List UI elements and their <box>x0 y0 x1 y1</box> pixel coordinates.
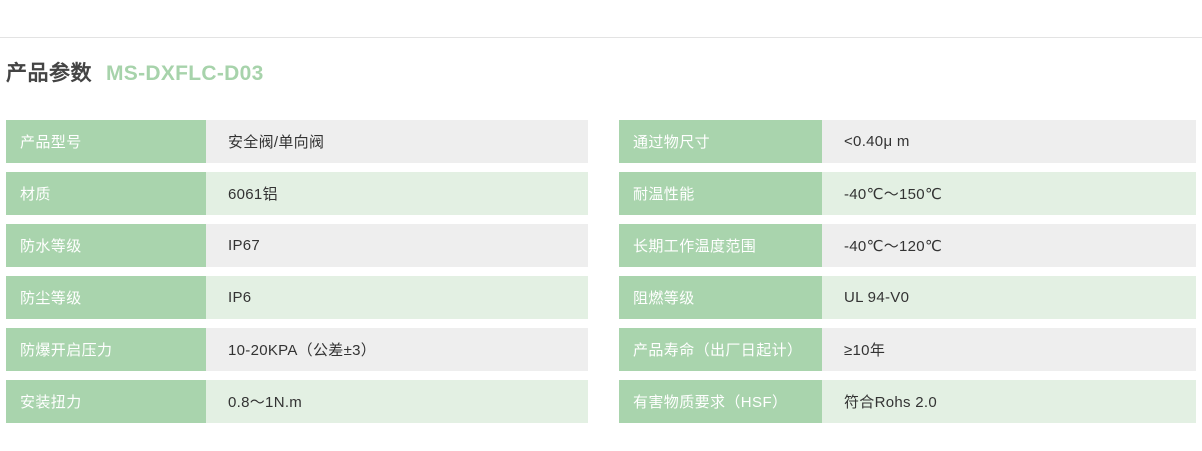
spec-label: 长期工作温度范围 <box>619 224 822 267</box>
page-heading: 产品参数 MS-DXFLC-D03 <box>6 57 264 87</box>
spec-value: UL 94-V0 <box>822 276 1196 319</box>
spec-value: 符合Rohs 2.0 <box>822 380 1196 423</box>
table-row: 耐温性能 -40℃～150℃ <box>619 172 1196 215</box>
table-row: 防尘等级 IP6 <box>6 276 588 319</box>
spec-table-left: 产品型号 安全阀/单向阀 材质 6061铝 防水等级 IP67 防尘等级 IP6… <box>6 120 588 423</box>
table-row: 产品寿命（出厂日起计） ≥10年 <box>619 328 1196 371</box>
table-row: 阻燃等级 UL 94-V0 <box>619 276 1196 319</box>
table-row: 安装扭力 0.8～1N.m <box>6 380 588 423</box>
page-title: 产品参数 <box>6 57 92 87</box>
spec-label: 通过物尺寸 <box>619 120 822 163</box>
spec-value: -40℃～150℃ <box>822 172 1196 215</box>
spec-value: IP6 <box>206 276 588 319</box>
table-row: 产品型号 安全阀/单向阀 <box>6 120 588 163</box>
product-model-code: MS-DXFLC-D03 <box>106 62 264 86</box>
table-row: 通过物尺寸 <0.40μ m <box>619 120 1196 163</box>
spec-label: 阻燃等级 <box>619 276 822 319</box>
spec-columns: 产品型号 安全阀/单向阀 材质 6061铝 防水等级 IP67 防尘等级 IP6… <box>0 120 1202 423</box>
spec-value: IP67 <box>206 224 588 267</box>
table-row: 有害物质要求（HSF） 符合Rohs 2.0 <box>619 380 1196 423</box>
spec-label: 产品型号 <box>6 120 206 163</box>
spec-label: 材质 <box>6 172 206 215</box>
table-row: 长期工作温度范围 -40℃～120℃ <box>619 224 1196 267</box>
spec-label: 防尘等级 <box>6 276 206 319</box>
table-row: 防水等级 IP67 <box>6 224 588 267</box>
spec-value: 6061铝 <box>206 172 588 215</box>
top-divider <box>0 37 1202 38</box>
spec-value: ≥10年 <box>822 328 1196 371</box>
spec-label: 防水等级 <box>6 224 206 267</box>
table-row: 防爆开启压力 10-20KPA（公差±3） <box>6 328 588 371</box>
spec-label: 安装扭力 <box>6 380 206 423</box>
spec-value: 10-20KPA（公差±3） <box>206 328 588 371</box>
spec-label: 产品寿命（出厂日起计） <box>619 328 822 371</box>
table-row: 材质 6061铝 <box>6 172 588 215</box>
spec-value: <0.40μ m <box>822 120 1196 163</box>
spec-value: 0.8～1N.m <box>206 380 588 423</box>
product-spec-page: 产品参数 MS-DXFLC-D03 产品型号 安全阀/单向阀 材质 6061铝 … <box>0 0 1202 451</box>
spec-table-right: 通过物尺寸 <0.40μ m 耐温性能 -40℃～150℃ 长期工作温度范围 -… <box>619 120 1196 423</box>
spec-label: 耐温性能 <box>619 172 822 215</box>
spec-value: -40℃～120℃ <box>822 224 1196 267</box>
spec-value: 安全阀/单向阀 <box>206 120 588 163</box>
spec-label: 有害物质要求（HSF） <box>619 380 822 423</box>
spec-label: 防爆开启压力 <box>6 328 206 371</box>
